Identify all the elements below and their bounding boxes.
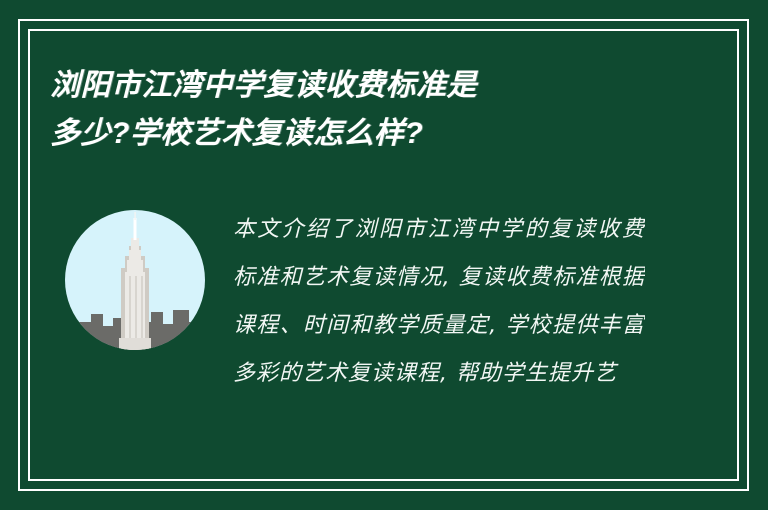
content-area: 本文介绍了浏阳市江湾中学的复读收费标准和艺术复读情况, 复读收费标准根据课程、时…: [0, 198, 768, 478]
empire-state-building-icon: [65, 210, 205, 350]
page-title: 浏阳市江湾中学复读收费标准是 多少?学校艺术复读怎么样?: [50, 62, 690, 158]
body-paragraph: 本文介绍了浏阳市江湾中学的复读收费标准和艺术复读情况, 复读收费标准根据课程、时…: [233, 206, 645, 466]
title-line-1: 浏阳市江湾中学复读收费标准是: [50, 62, 690, 110]
title-line-2: 多少?学校艺术复读怎么样?: [50, 110, 690, 158]
poster-canvas: 浏阳市江湾中学复读收费标准是 多少?学校艺术复读怎么样?: [0, 0, 768, 510]
illustration-container: [65, 210, 205, 350]
